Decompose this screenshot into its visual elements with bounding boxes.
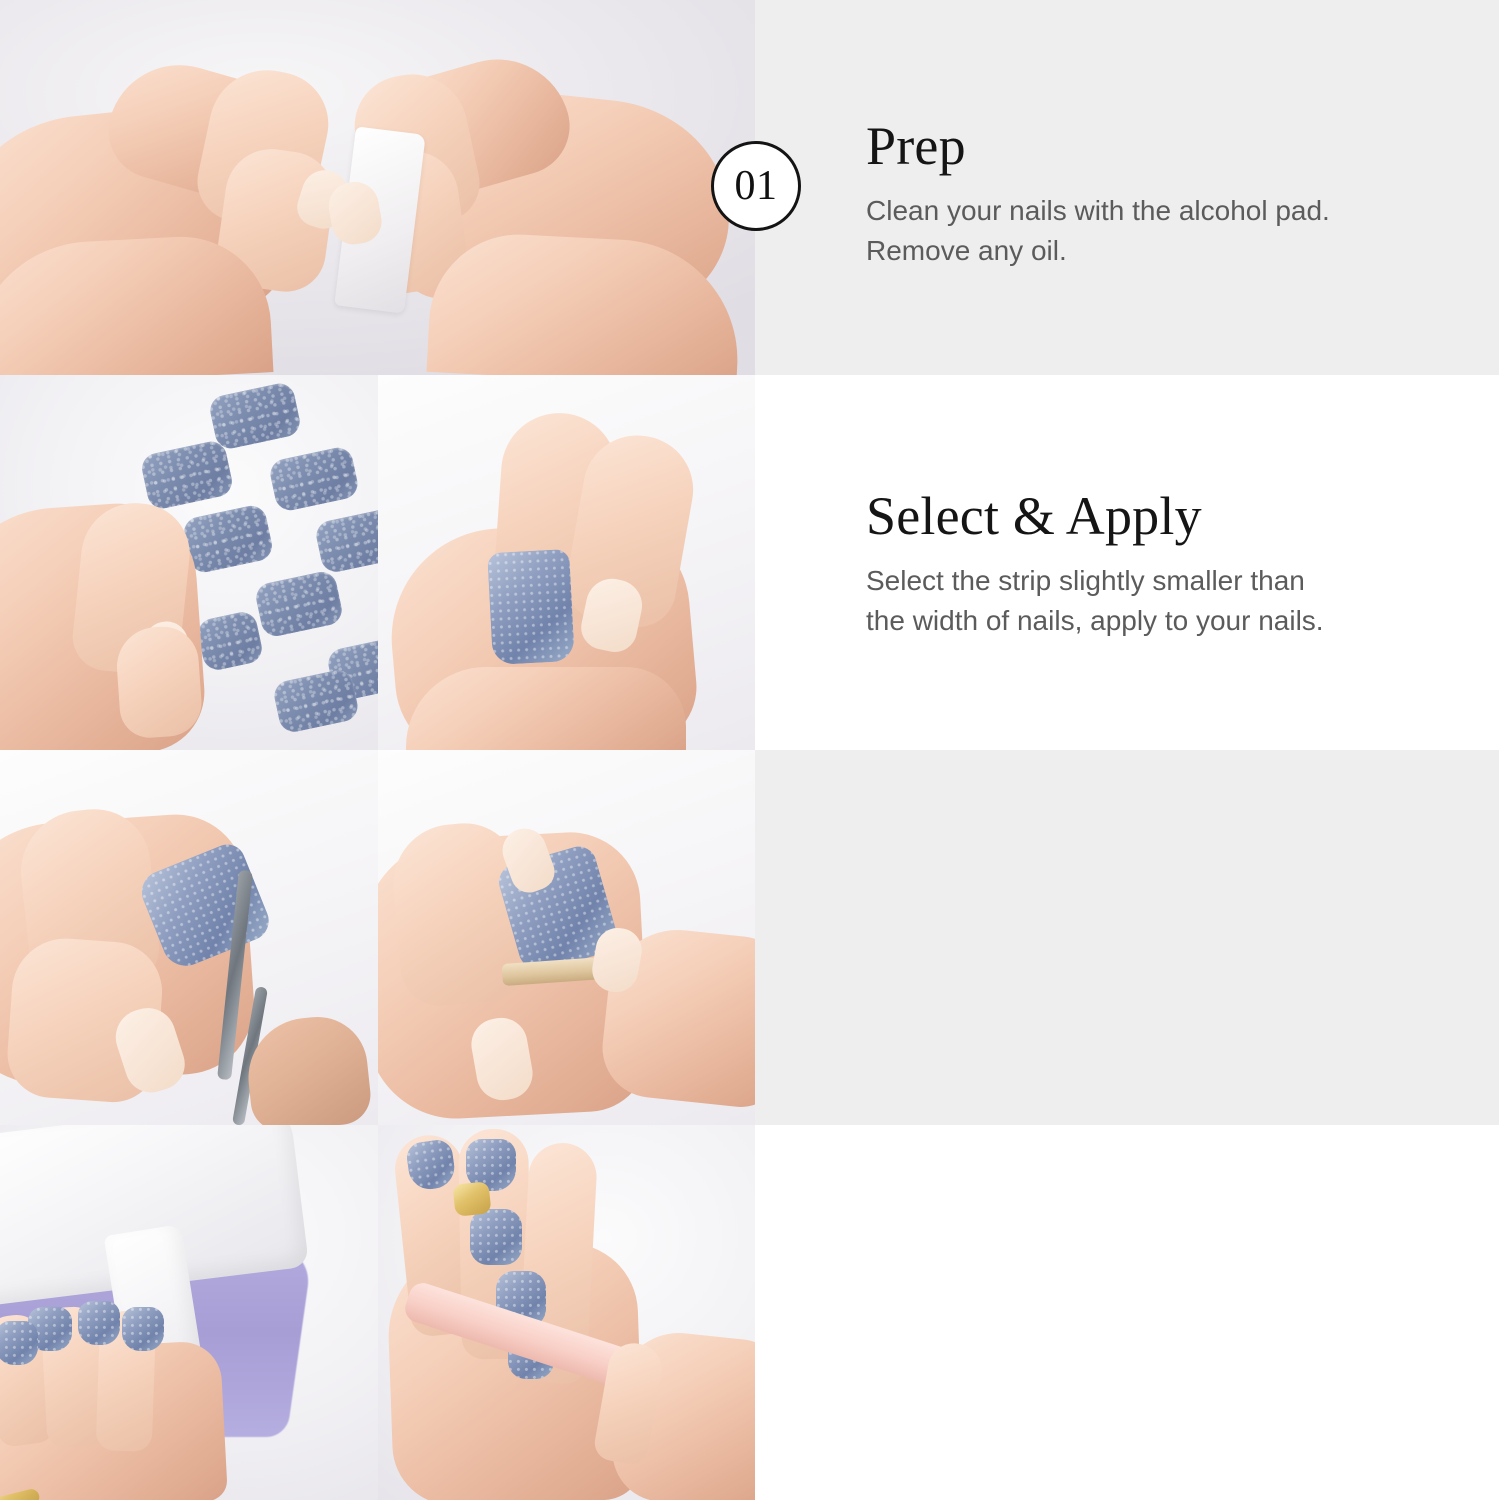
photo-column-04 (0, 1125, 755, 1500)
photo-column-02 (0, 375, 755, 750)
photo-smooth-nail-file (378, 1125, 755, 1500)
step-desc-line: Remove any oil. (866, 231, 1426, 271)
step-desc-line: Clean your nails with the alcohol pad. (866, 191, 1426, 231)
step-row-02: 02 Select & Apply Select the strip sligh… (0, 375, 1499, 750)
step-description-01: Clean your nails with the alcohol pad. R… (866, 191, 1426, 271)
photo-column-03 (0, 750, 755, 1125)
step-badge-01: 01 (711, 141, 801, 231)
step-description-02: Select the strip slightly smaller than t… (866, 561, 1426, 641)
photo-prep-alcohol-pad (0, 0, 755, 375)
blue-nail (78, 1301, 120, 1345)
step-row-01: 01 Prep Clean your nails with the alcoho… (0, 0, 1499, 375)
blue-nail (470, 1209, 522, 1265)
step-title-02: Select & Apply (866, 488, 1426, 545)
photo-apply-strip (378, 375, 755, 750)
photo-trim-with-clippers (0, 750, 378, 1125)
step-row-03: 03 Trim & Press Firmly press the edges o… (0, 750, 1499, 1125)
blue-nail (0, 1321, 38, 1365)
step-text-01: Prep Clean your nails with the alcohol p… (866, 118, 1426, 271)
photo-press-with-stick (378, 750, 755, 1125)
photo-column-01 (0, 0, 755, 375)
step-text-02: Select & Apply Select the strip slightly… (866, 488, 1426, 641)
step-desc-line: Select the strip slightly smaller than (866, 561, 1426, 601)
left-wrist (0, 232, 273, 375)
blue-nail (122, 1307, 164, 1351)
hand-lower (406, 667, 686, 750)
step-desc-line: the width of nails, apply to your nails. (866, 601, 1426, 641)
step-title-01: Prep (866, 118, 1426, 175)
gold-ring (452, 1181, 491, 1217)
photo-cure-uv-lamp (0, 1125, 378, 1500)
step-row-04: 04 Cure & Smooth Cure the strips under U… (0, 1125, 1499, 1500)
photo-strip-sheet (0, 375, 378, 750)
instruction-sheet: 01 Prep Clean your nails with the alcoho… (0, 0, 1499, 1500)
finger (114, 624, 203, 739)
nail-with-strip (487, 549, 575, 665)
